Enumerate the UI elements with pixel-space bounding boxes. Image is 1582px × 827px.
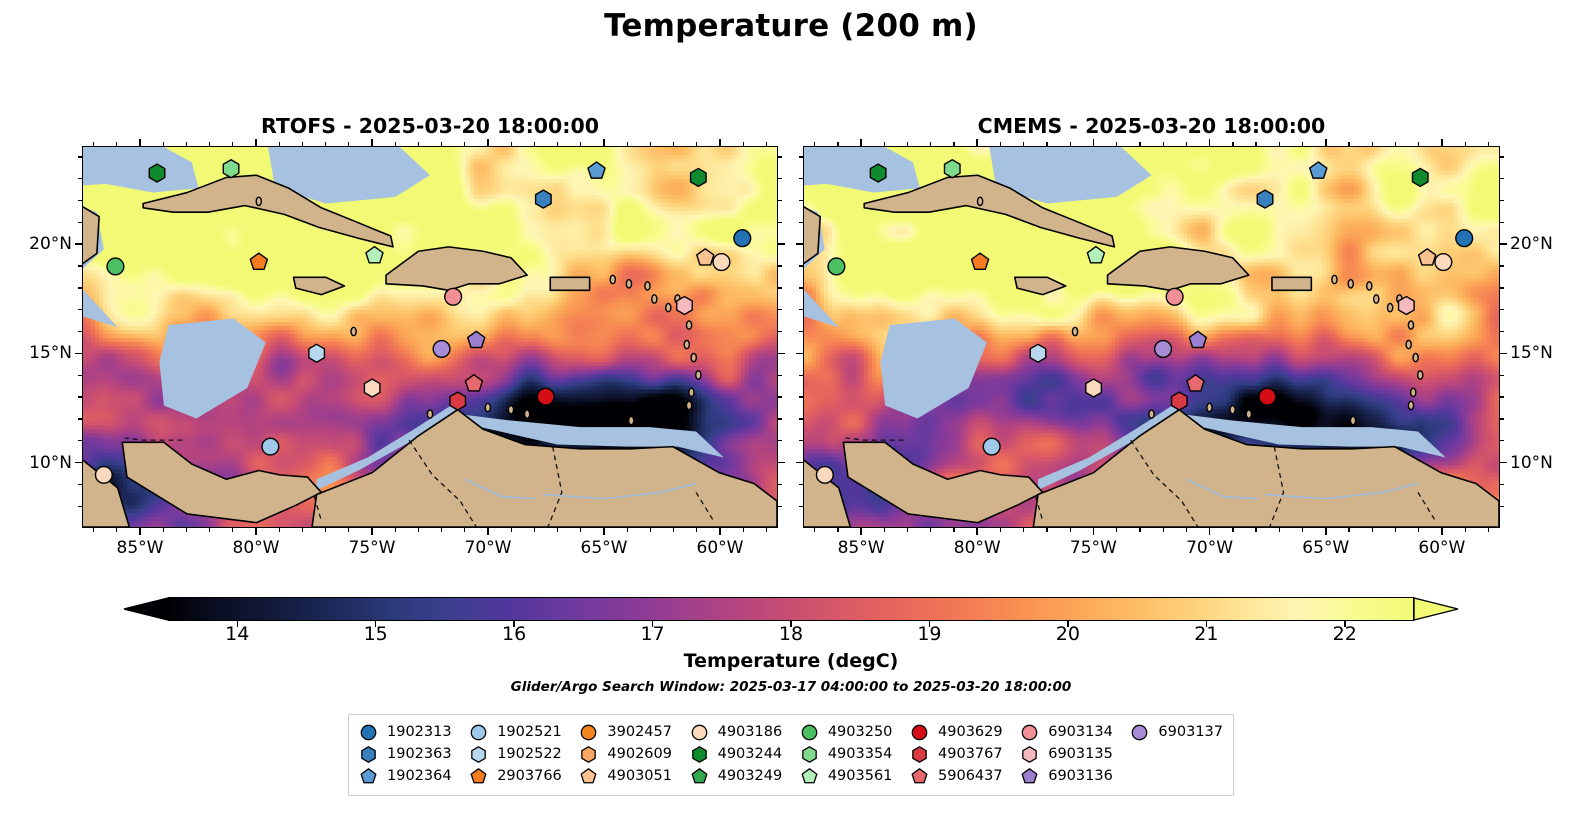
- axis-tickmark: [464, 528, 465, 532]
- float-marker: [1399, 297, 1415, 315]
- axis-tickmark: [302, 528, 303, 532]
- cmems-temperature-field: [804, 147, 1499, 527]
- axis-tickmark: [837, 142, 838, 146]
- axis-tickmark: [1418, 142, 1419, 146]
- legend-marker-icon: [1020, 723, 1039, 742]
- axis-tickmark: [627, 528, 628, 532]
- float-marker: [677, 297, 693, 315]
- axis-tickmark: [837, 528, 838, 532]
- axis-tickmark: [627, 142, 628, 146]
- axis-tickmark: [78, 200, 82, 201]
- axis-tickmark: [557, 528, 558, 532]
- axis-tickmark: [441, 528, 442, 532]
- axis-tickmark: [778, 287, 782, 288]
- colorbar-tick-label: 18: [751, 623, 831, 645]
- x-axis-label: 80°W: [932, 538, 1022, 558]
- x-axis-label: 85°W: [816, 538, 906, 558]
- legend-marker-icon: [469, 745, 488, 764]
- float-marker: [537, 388, 554, 405]
- legend-grid: 1902313190236319023641902521190252229037…: [359, 721, 1223, 787]
- legend-label: 4903250: [828, 724, 893, 740]
- axis-tickmark: [796, 462, 803, 464]
- axis-tickmark: [1302, 142, 1303, 146]
- legend-marker-icon: [690, 767, 709, 786]
- float-legend[interactable]: 1902313190236319023641902521190252229037…: [348, 714, 1234, 796]
- axis-tickmark: [1302, 528, 1303, 532]
- x-axis-label: 60°W: [675, 538, 765, 558]
- axis-tickmark: [186, 528, 187, 532]
- colorbar-tick-label: 17: [613, 623, 693, 645]
- axis-tickmark: [116, 142, 117, 146]
- axis-tickmark: [696, 528, 697, 532]
- axis-tickmark: [1500, 440, 1504, 441]
- float-marker: [1435, 254, 1452, 271]
- axis-tickmark: [1348, 142, 1349, 146]
- axis-tickmark: [186, 142, 187, 146]
- axis-tickmark: [395, 142, 396, 146]
- axis-tickmark: [1500, 243, 1507, 245]
- axis-tickmark: [1395, 528, 1396, 532]
- axis-tickmark: [418, 528, 419, 532]
- legend-item[interactable]: 4903561: [800, 765, 910, 787]
- legend-item[interactable]: 1902363: [359, 743, 469, 765]
- axis-tickmark: [580, 528, 581, 532]
- axis-tickmark: [953, 142, 954, 146]
- axis-tickmark: [78, 309, 82, 310]
- axis-tickmark: [163, 142, 164, 146]
- axis-tickmark: [1500, 265, 1504, 266]
- axis-tickmark: [799, 200, 803, 201]
- legend-label: 1902364: [387, 768, 452, 784]
- colorbar-gradient: [168, 597, 1414, 621]
- axis-tickmark: [93, 528, 94, 532]
- axis-tickmark: [1488, 142, 1489, 146]
- x-axis-label: 60°W: [1397, 538, 1487, 558]
- axis-tickmark: [1500, 178, 1504, 179]
- legend-item[interactable]: 2903766: [469, 765, 579, 787]
- axis-tickmark: [778, 200, 782, 201]
- axis-tickmark: [860, 139, 862, 146]
- axis-tickmark: [1232, 142, 1233, 146]
- axis-tickmark: [799, 265, 803, 266]
- axis-tickmark: [719, 139, 721, 146]
- legend-marker-icon: [1020, 767, 1039, 786]
- y-axis-label: 20°N: [0, 234, 72, 254]
- axis-tickmark: [860, 528, 862, 535]
- legend-marker-icon: [469, 767, 488, 786]
- axis-tickmark: [1465, 142, 1466, 146]
- legend-label: 4903561: [828, 768, 893, 784]
- x-axis-label: 75°W: [327, 538, 417, 558]
- legend-item[interactable]: 1902522: [469, 743, 579, 765]
- search-window-text: Glider/Argo Search Window: 2025-03-17 04…: [0, 679, 1582, 695]
- axis-tickmark: [796, 353, 803, 355]
- axis-tickmark: [371, 528, 373, 535]
- colorbar-tick-label: 14: [197, 623, 277, 645]
- legend-item[interactable]: 6903137: [1130, 721, 1223, 743]
- float-marker: [107, 258, 124, 275]
- axis-tickmark: [799, 222, 803, 223]
- axis-tickmark: [1500, 462, 1507, 464]
- legend-marker-icon: [910, 745, 929, 764]
- axis-tickmark: [1500, 375, 1504, 376]
- legend-label: 6903136: [1048, 768, 1113, 784]
- legend-item[interactable]: 4903244: [690, 743, 800, 765]
- legend-marker-icon: [800, 767, 819, 786]
- legend-marker-icon: [910, 767, 929, 786]
- axis-tickmark: [1186, 142, 1187, 146]
- axis-tickmark: [1279, 528, 1280, 532]
- axis-tickmark: [799, 418, 803, 419]
- axis-tickmark: [1070, 528, 1071, 532]
- axis-tickmark: [557, 142, 558, 146]
- legend-label: 5906437: [938, 768, 1003, 784]
- colorbar-tick-label: 15: [336, 623, 416, 645]
- axis-tickmark: [778, 506, 782, 507]
- legend-item[interactable]: 4903186: [690, 721, 800, 743]
- x-axis-label: 65°W: [559, 538, 649, 558]
- float-marker: [870, 164, 886, 182]
- float-marker: [1030, 344, 1046, 362]
- axis-tickmark: [78, 418, 82, 419]
- legend-marker-icon: [359, 745, 378, 764]
- axis-tickmark: [799, 396, 803, 397]
- x-axis-label: 70°W: [443, 538, 533, 558]
- axis-tickmark: [778, 156, 782, 157]
- x-axis-label: 85°W: [95, 538, 185, 558]
- float-marker: [1257, 190, 1273, 208]
- legend-marker-icon: [800, 745, 819, 764]
- axis-tickmark: [279, 142, 280, 146]
- rtofs-temperature-field: [83, 147, 777, 527]
- float-marker: [262, 438, 279, 455]
- axis-tickmark: [778, 396, 782, 397]
- axis-tickmark: [441, 142, 442, 146]
- x-axis-label: 80°W: [211, 538, 301, 558]
- float-marker: [1172, 392, 1188, 410]
- legend-item[interactable]: 4903629: [910, 721, 1020, 743]
- legend-marker-icon: [359, 723, 378, 742]
- float-marker: [816, 467, 833, 484]
- axis-tickmark: [673, 142, 674, 146]
- y-axis-label: 15°N: [0, 343, 72, 363]
- legend-label: 1902522: [497, 746, 562, 762]
- axis-tickmark: [163, 528, 164, 532]
- legend-label: 6903137: [1158, 724, 1223, 740]
- legend-item[interactable]: 1902521: [469, 721, 579, 743]
- map-panel-rtofs[interactable]: [82, 146, 778, 528]
- legend-marker-icon: [579, 767, 598, 786]
- colorbar-tick-label: 16: [474, 623, 554, 645]
- legend-item[interactable]: 6903135: [1020, 743, 1130, 765]
- panel-title-cmems: CMEMS - 2025-03-20 18:00:00: [803, 114, 1500, 138]
- axis-tickmark: [799, 287, 803, 288]
- axis-tickmark: [1163, 528, 1164, 532]
- axis-tickmark: [75, 243, 82, 245]
- axis-tickmark: [603, 528, 605, 535]
- legend-marker-icon: [910, 723, 929, 742]
- y-axis-label: 15°N: [1510, 343, 1553, 363]
- axis-tickmark: [1116, 142, 1117, 146]
- float-marker: [828, 258, 845, 275]
- legend-item[interactable]: 1902364: [359, 765, 469, 787]
- axis-tickmark: [1500, 222, 1504, 223]
- y-axis-label: 20°N: [1510, 234, 1553, 254]
- axis-tickmark: [325, 528, 326, 532]
- legend-item[interactable]: 4903250: [800, 721, 910, 743]
- axis-tickmark: [778, 243, 785, 245]
- legend-label: 1902363: [387, 746, 452, 762]
- axis-tickmark: [1465, 528, 1466, 532]
- axis-tickmark: [348, 528, 349, 532]
- float-marker: [95, 467, 112, 484]
- legend-label: 4903249: [718, 768, 783, 784]
- axis-tickmark: [78, 265, 82, 266]
- axis-tickmark: [348, 142, 349, 146]
- axis-tickmark: [255, 139, 257, 146]
- float-marker: [1086, 379, 1102, 397]
- axis-tickmark: [1500, 200, 1504, 201]
- axis-tickmark: [1372, 142, 1373, 146]
- float-marker: [691, 168, 707, 186]
- axis-tickmark: [778, 440, 782, 441]
- float-marker: [1412, 168, 1428, 186]
- axis-tickmark: [907, 528, 908, 532]
- legend-marker-icon: [690, 745, 709, 764]
- legend-item[interactable]: 4902609: [579, 743, 689, 765]
- axis-tickmark: [1325, 528, 1327, 535]
- axis-tickmark: [884, 142, 885, 146]
- axis-tickmark: [778, 484, 782, 485]
- legend-label: 6903135: [1048, 746, 1113, 762]
- float-marker: [1155, 341, 1172, 358]
- legend-item[interactable]: 4903354: [800, 743, 910, 765]
- axis-tickmark: [1500, 309, 1504, 310]
- axis-tickmark: [1093, 139, 1095, 146]
- axis-tickmark: [799, 309, 803, 310]
- axis-tickmark: [766, 142, 767, 146]
- axis-tickmark: [778, 222, 782, 223]
- axis-tickmark: [1418, 528, 1419, 532]
- axis-tickmark: [1070, 142, 1071, 146]
- axis-tickmark: [799, 156, 803, 157]
- legend-label: 1902521: [497, 724, 562, 740]
- axis-tickmark: [209, 528, 210, 532]
- float-marker: [536, 190, 552, 208]
- axis-tickmark: [78, 396, 82, 397]
- legend-marker-icon: [579, 745, 598, 764]
- legend-label: 4903354: [828, 746, 893, 762]
- legend-label: 6903134: [1048, 724, 1113, 740]
- legend-item[interactable]: 4903051: [579, 765, 689, 787]
- axis-tickmark: [1500, 396, 1504, 397]
- axis-tickmark: [976, 528, 978, 535]
- float-marker: [713, 254, 730, 271]
- axis-tickmark: [1139, 142, 1140, 146]
- axis-tickmark: [534, 528, 535, 532]
- axis-tickmark: [778, 353, 785, 355]
- axis-tickmark: [78, 375, 82, 376]
- legend-marker-icon: [800, 723, 819, 742]
- float-marker: [983, 438, 1000, 455]
- page-title: Temperature (200 m): [0, 8, 1582, 44]
- axis-tickmark: [1163, 142, 1164, 146]
- axis-tickmark: [78, 331, 82, 332]
- axis-tickmark: [1500, 484, 1504, 485]
- axis-tickmark: [1209, 139, 1211, 146]
- legend-marker-icon: [690, 723, 709, 742]
- axis-tickmark: [976, 139, 978, 146]
- axis-tickmark: [209, 142, 210, 146]
- axis-tickmark: [799, 375, 803, 376]
- axis-tickmark: [884, 528, 885, 532]
- axis-tickmark: [1116, 528, 1117, 532]
- axis-tickmark: [232, 528, 233, 532]
- colorbar-label: Temperature (degC): [0, 650, 1582, 672]
- axis-tickmark: [1500, 287, 1504, 288]
- legend-label: 3902457: [607, 724, 672, 740]
- axis-tickmark: [78, 440, 82, 441]
- legend-marker-icon: [1130, 723, 1149, 742]
- axis-tickmark: [650, 528, 651, 532]
- colorbar[interactable]: 141516171819202122: [110, 597, 1472, 621]
- axis-tickmark: [75, 462, 82, 464]
- x-axis-label: 70°W: [1165, 538, 1255, 558]
- legend-label: 4903051: [607, 768, 672, 784]
- axis-tickmark: [766, 528, 767, 532]
- x-axis-label: 65°W: [1281, 538, 1371, 558]
- axis-tickmark: [930, 142, 931, 146]
- axis-tickmark: [1441, 528, 1443, 535]
- axis-tickmark: [799, 440, 803, 441]
- colorbar-tick-label: 20: [1028, 623, 1108, 645]
- legend-label: 4903767: [938, 746, 1003, 762]
- axis-tickmark: [464, 142, 465, 146]
- legend-item[interactable]: 4903767: [910, 743, 1020, 765]
- legend-item[interactable]: 5906437: [910, 765, 1020, 787]
- axis-tickmark: [1209, 528, 1211, 535]
- axis-tickmark: [580, 142, 581, 146]
- axis-tickmark: [1255, 142, 1256, 146]
- axis-tickmark: [1488, 528, 1489, 532]
- axis-tickmark: [1023, 142, 1024, 146]
- axis-tickmark: [534, 142, 535, 146]
- float-marker: [364, 379, 380, 397]
- axis-tickmark: [139, 139, 141, 146]
- axis-tickmark: [1500, 331, 1504, 332]
- legend-item[interactable]: 6903136: [1020, 765, 1130, 787]
- axis-tickmark: [799, 331, 803, 332]
- axis-tickmark: [799, 506, 803, 507]
- axis-tickmark: [1046, 528, 1047, 532]
- figure-canvas: Temperature (200 m) RTOFS - 2025-03-20 1…: [0, 0, 1582, 827]
- axis-tickmark: [650, 142, 651, 146]
- axis-tickmark: [1500, 156, 1504, 157]
- legend-label: 1902313: [387, 724, 452, 740]
- legend-marker-icon: [579, 723, 598, 742]
- x-axis-label: 75°W: [1048, 538, 1138, 558]
- axis-tickmark: [325, 142, 326, 146]
- colorbar-tick-label: 22: [1305, 623, 1385, 645]
- legend-label: 2903766: [497, 768, 562, 784]
- legend-item[interactable]: 4903249: [690, 765, 800, 787]
- axis-tickmark: [1372, 528, 1373, 532]
- axis-tickmark: [696, 142, 697, 146]
- axis-tickmark: [1000, 528, 1001, 532]
- axis-tickmark: [78, 156, 82, 157]
- axis-tickmark: [371, 139, 373, 146]
- axis-tickmark: [511, 528, 512, 532]
- float-marker: [309, 344, 325, 362]
- axis-tickmark: [395, 528, 396, 532]
- axis-tickmark: [511, 142, 512, 146]
- legend-label: 4903244: [718, 746, 783, 762]
- y-axis-label: 10°N: [1510, 453, 1553, 473]
- legend-item[interactable]: 6903134: [1020, 721, 1130, 743]
- axis-tickmark: [279, 528, 280, 532]
- axis-tickmark: [1279, 142, 1280, 146]
- axis-tickmark: [1232, 528, 1233, 532]
- axis-tickmark: [487, 528, 489, 535]
- axis-tickmark: [78, 506, 82, 507]
- axis-tickmark: [778, 265, 782, 266]
- axis-tickmark: [778, 375, 782, 376]
- panel-title-rtofs: RTOFS - 2025-03-20 18:00:00: [82, 114, 778, 138]
- axis-tickmark: [1139, 528, 1140, 532]
- float-marker: [734, 230, 751, 247]
- axis-tickmark: [139, 528, 141, 535]
- axis-tickmark: [487, 139, 489, 146]
- axis-tickmark: [75, 353, 82, 355]
- axis-tickmark: [799, 178, 803, 179]
- legend-label: 4903629: [938, 724, 1003, 740]
- axis-tickmark: [1186, 528, 1187, 532]
- axis-tickmark: [814, 528, 815, 532]
- float-marker: [944, 160, 960, 178]
- axis-tickmark: [778, 309, 782, 310]
- axis-tickmark: [1348, 528, 1349, 532]
- float-marker: [1456, 230, 1473, 247]
- axis-tickmark: [1023, 528, 1024, 532]
- axis-tickmark: [603, 139, 605, 146]
- axis-tickmark: [1500, 353, 1507, 355]
- axis-tickmark: [302, 142, 303, 146]
- axis-tickmark: [255, 528, 257, 535]
- axis-tickmark: [907, 142, 908, 146]
- axis-tickmark: [814, 142, 815, 146]
- y-axis-label: 10°N: [0, 453, 72, 473]
- axis-tickmark: [1441, 139, 1443, 146]
- axis-tickmark: [796, 243, 803, 245]
- axis-tickmark: [1046, 142, 1047, 146]
- axis-tickmark: [78, 222, 82, 223]
- axis-tickmark: [232, 142, 233, 146]
- axis-tickmark: [78, 178, 82, 179]
- axis-tickmark: [719, 528, 721, 535]
- legend-label: 4902609: [607, 746, 672, 762]
- legend-item[interactable]: 1902313: [359, 721, 469, 743]
- axis-tickmark: [743, 528, 744, 532]
- map-panel-cmems[interactable]: [803, 146, 1500, 528]
- axis-tickmark: [778, 462, 785, 464]
- axis-tickmark: [78, 484, 82, 485]
- axis-tickmark: [799, 484, 803, 485]
- legend-item[interactable]: 3902457: [579, 721, 689, 743]
- axis-tickmark: [743, 142, 744, 146]
- axis-tickmark: [1325, 139, 1327, 146]
- axis-tickmark: [953, 528, 954, 532]
- axis-tickmark: [673, 528, 674, 532]
